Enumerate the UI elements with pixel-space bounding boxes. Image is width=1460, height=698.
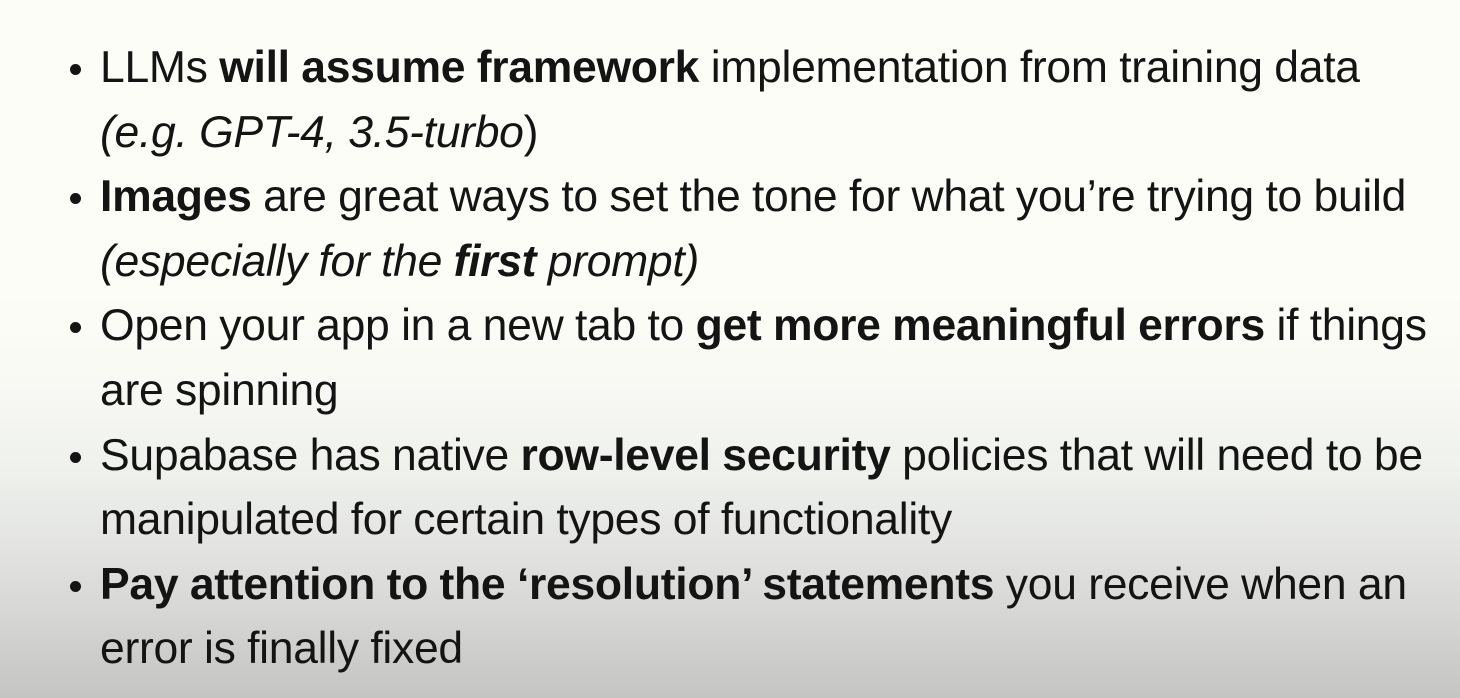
list-item: Pay attention to the ‘resolution’ statem… [0,553,1460,682]
bullet-list: LLMs will assume framework implementatio… [0,36,1460,682]
bullet-point-icon [70,322,81,333]
bullet-point-icon [70,452,81,463]
slide-canvas: LLMs will assume framework implementatio… [0,0,1460,698]
bullet-point-icon [70,581,81,592]
bullet-text-resolution-statements: Pay attention to the ‘resolution’ statem… [100,553,1446,682]
bullet-text-llms-assume-framework: LLMs will assume framework implementatio… [100,36,1446,165]
bullet-text-images-set-tone: Images are great ways to set the tone fo… [100,165,1446,294]
bullet-text-supabase-rls: Supabase has native row-level security p… [100,424,1446,553]
bullet-point-icon [70,193,81,204]
list-item: Images are great ways to set the tone fo… [0,165,1460,294]
bullet-text-open-new-tab-errors: Open your app in a new tab to get more m… [100,294,1446,423]
list-item: Open your app in a new tab to get more m… [0,294,1460,423]
list-item: Supabase has native row-level security p… [0,424,1460,553]
list-item: LLMs will assume framework implementatio… [0,36,1460,165]
bullet-point-icon [70,64,81,75]
